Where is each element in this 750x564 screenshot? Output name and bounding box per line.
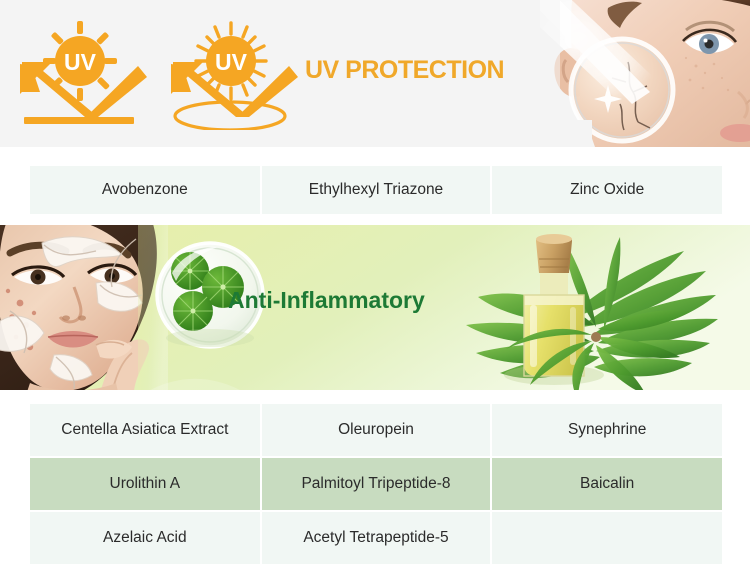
ingredient-cell-highlighted[interactable]: Palmitoyl Tripeptide-8 xyxy=(261,457,492,511)
uv-icon-label: UV xyxy=(215,49,248,75)
table-row: Avobenzone Ethylhexyl Triazone Zinc Oxid… xyxy=(30,166,722,214)
table-row: Urolithin A Palmitoyl Tripeptide-8 Baica… xyxy=(30,457,722,511)
uv-protection-banner: UV xyxy=(0,0,750,147)
ingredient-cell-empty xyxy=(491,511,722,564)
ingredient-cell-highlighted[interactable]: Urolithin A xyxy=(30,457,261,511)
woman-face-peeling-skin-photo xyxy=(0,225,168,390)
uv-ingredients-table: Avobenzone Ethylhexyl Triazone Zinc Oxid… xyxy=(30,166,722,214)
table-row: Centella Asiatica Extract Oleuropein Syn… xyxy=(30,404,722,457)
anti-inflammatory-ingredients-table: Centella Asiatica Extract Oleuropein Syn… xyxy=(30,404,722,564)
ingredient-cell[interactable]: Zinc Oxide xyxy=(491,166,722,214)
woman-face-magnifier-sunray-photo xyxy=(500,0,750,147)
ingredient-cell[interactable]: Avobenzone xyxy=(30,166,261,214)
uv-sun-reflect-flat-icon: UV xyxy=(12,18,147,130)
ingredient-cell[interactable]: Oleuropein xyxy=(261,404,492,457)
ingredient-cell[interactable]: Azelaic Acid xyxy=(30,511,261,564)
table-row: Azelaic Acid Acetyl Tetrapeptide-5 xyxy=(30,511,722,564)
uv-protection-title: UV PROTECTION xyxy=(305,56,504,85)
ingredient-cell[interactable]: Acetyl Tetrapeptide-5 xyxy=(261,511,492,564)
uv-icon-label: UV xyxy=(64,49,97,75)
ingredient-cell[interactable]: Centella Asiatica Extract xyxy=(30,404,261,457)
anti-inflammatory-title: Anti-Inflammatory xyxy=(228,287,425,314)
ingredient-cell-highlighted[interactable]: Baicalin xyxy=(491,457,722,511)
uv-sun-reflect-ellipse-icon: UV xyxy=(163,18,298,130)
ingredient-cell[interactable]: Synephrine xyxy=(491,404,722,457)
product-ingredient-infographic: UV xyxy=(0,0,750,557)
ingredient-cell[interactable]: Ethylhexyl Triazone xyxy=(261,166,492,214)
